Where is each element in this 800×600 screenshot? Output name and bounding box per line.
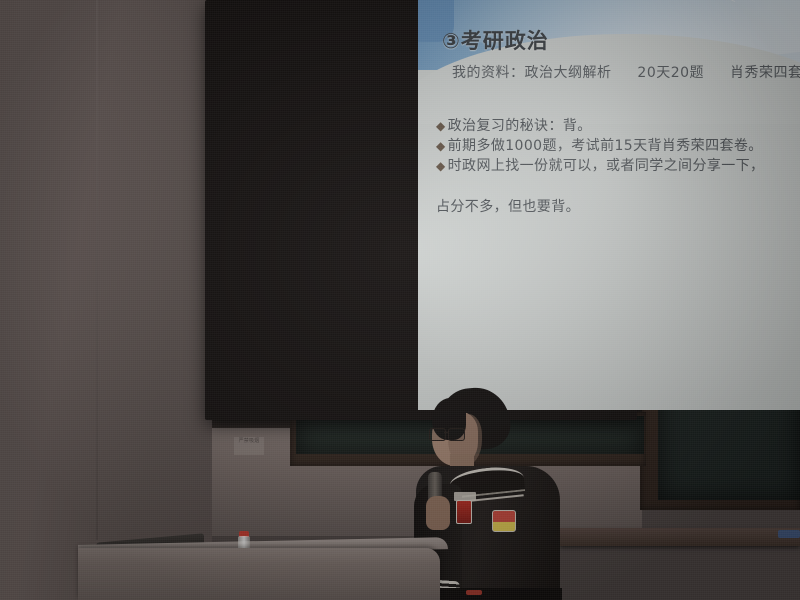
slide-bullet-list: ◆政治复习的秘诀：背。 ◆前期多做1000题，考试前15天背肖秀荣四套卷。 ◆时… — [436, 116, 800, 176]
slide-continuation-line: 占分不多，但也要背。 — [436, 196, 580, 216]
chalk-box-icon — [778, 530, 800, 538]
bullet-text: 政治复习的秘诀：背。 — [448, 118, 592, 134]
projection-screen: ③考研政治 我的资料：政治大纲解析 20天20题 肖秀荣四套卷 ◆政治复习的秘诀… — [418, 0, 800, 410]
resource-item-3: 肖秀荣四套卷 — [730, 65, 800, 81]
projection-screen-frame: ③考研政治 我的资料：政治大纲解析 20天20题 肖秀荣四套卷 ◆政治复习的秘诀… — [205, 0, 637, 420]
resource-label: 我的资料：政治大纲解析 — [452, 65, 612, 81]
jacket-patch-orange — [492, 510, 516, 532]
diamond-bullet-icon: ◆ — [436, 139, 446, 153]
podium — [78, 548, 440, 600]
presenter-hand — [426, 496, 450, 530]
diamond-bullet-icon: ◆ — [436, 119, 446, 133]
jacket-hem-accent — [466, 590, 482, 595]
glasses-icon — [429, 428, 469, 439]
bullet-item: ◆前期多做1000题，考试前15天背肖秀荣四套卷。 — [436, 136, 800, 156]
bullet-item: ◆时政网上找一份就可以，或者同学之间分享一下， — [436, 156, 800, 176]
wall-sign: 严禁吸烟 — [234, 437, 264, 455]
slide-title: ③考研政治 — [442, 25, 549, 55]
bullet-item: ◆政治复习的秘诀：背。 — [436, 116, 800, 136]
bullet-text: 前期多做1000题，考试前15天背肖秀荣四套卷。 — [448, 138, 763, 154]
jacket-patch-red — [456, 500, 472, 524]
bullet-text: 时政网上找一份就可以，或者同学之间分享一下， — [448, 158, 765, 174]
resource-item-2: 20天20题 — [637, 65, 704, 81]
chalk-ledge — [560, 528, 800, 546]
left-wall — [0, 0, 212, 600]
slide-content: ③考研政治 我的资料：政治大纲解析 20天20题 肖秀荣四套卷 ◆政治复习的秘诀… — [418, 0, 800, 410]
slide-resource-line: 我的资料：政治大纲解析 20天20题 肖秀荣四套卷 — [452, 62, 800, 82]
diamond-bullet-icon: ◆ — [436, 159, 446, 173]
lecture-photo-scene: 严禁吸烟 ③考研政治 我的资料：政治大纲解析 20天20题 肖秀荣四套卷 — [0, 0, 800, 600]
